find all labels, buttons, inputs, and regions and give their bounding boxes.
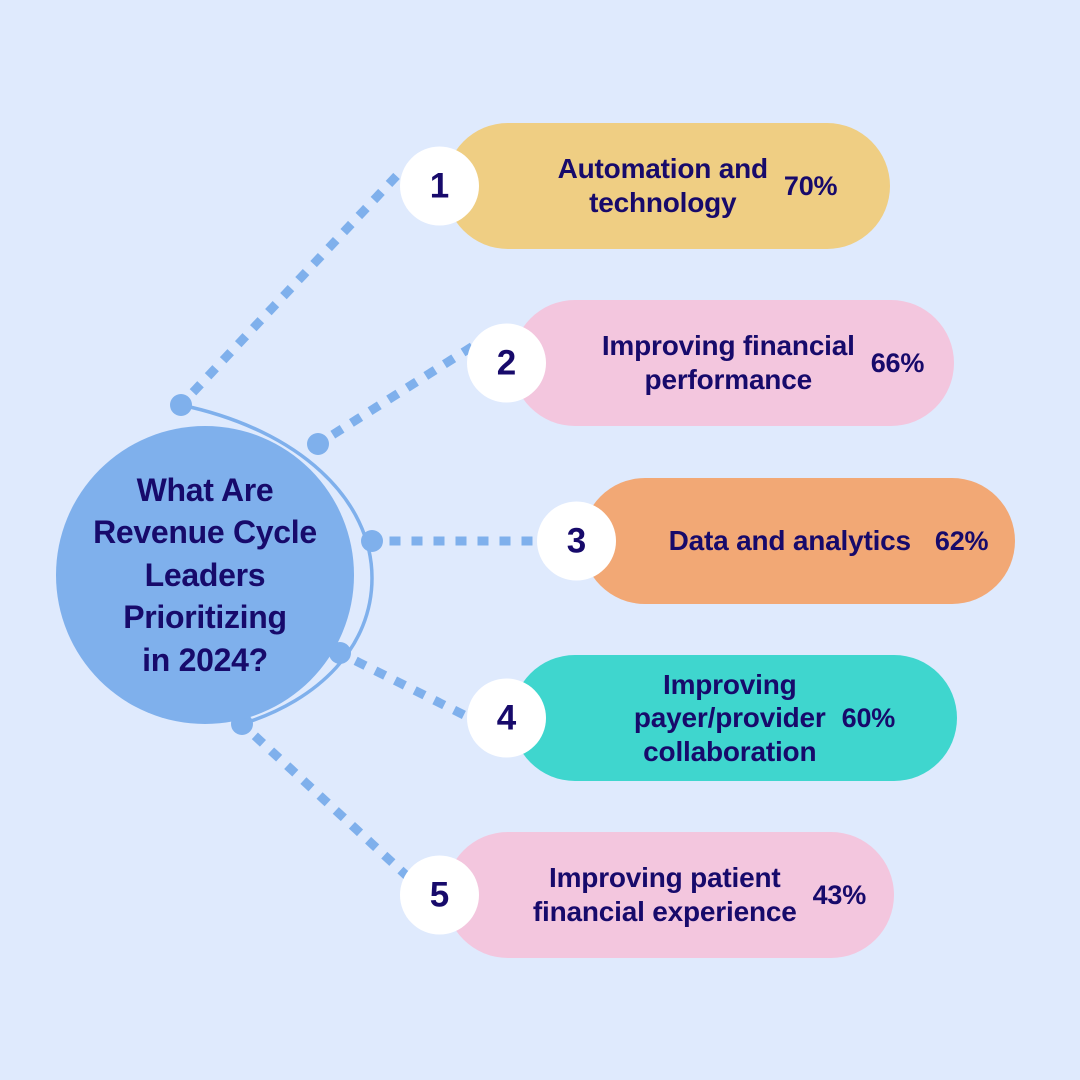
spoke-2 [318,348,470,444]
priority-rank-1: 1 [430,169,449,204]
central-hub: What Are Revenue Cycle Leaders Prioritiz… [56,426,354,724]
priority-pill-1[interactable]: Automation and technology 70% [445,123,890,249]
priority-value-4: 60% [842,703,895,734]
priority-pill-3[interactable]: Data and analytics 62% [582,478,1015,604]
priority-label-5: Improving patient financial experience [533,861,797,928]
spoke-4 [340,653,470,718]
priority-rank-4: 4 [497,701,516,736]
priority-item-4[interactable]: Improving payer/provider collaboration 6… [467,655,957,781]
priority-label-4: Improving payer/provider collaboration [634,668,826,769]
spoke-1 [181,168,404,405]
priority-badge-2: 2 [467,324,546,403]
priority-pill-2[interactable]: Improving financial performance 66% [512,300,954,426]
hub-title: What Are Revenue Cycle Leaders Prioritiz… [79,469,331,682]
priority-label-1: Automation and technology [558,152,768,219]
priority-rank-3: 3 [567,524,586,559]
priority-item-5[interactable]: Improving patient financial experience 4… [400,832,894,958]
priority-item-3[interactable]: Data and analytics 62% 3 [537,478,1015,604]
priority-badge-4: 4 [467,679,546,758]
connector-node-2 [307,433,329,455]
connector-node-1 [170,394,192,416]
infographic-canvas: What Are Revenue Cycle Leaders Prioritiz… [0,0,1080,1080]
priority-rank-5: 5 [430,878,449,913]
priority-value-3: 62% [935,526,988,557]
priority-label-2: Improving financial performance [602,329,855,396]
priority-value-1: 70% [784,171,837,202]
priority-rank-2: 2 [497,346,516,381]
priority-pill-4[interactable]: Improving payer/provider collaboration 6… [512,655,957,781]
priority-pill-5[interactable]: Improving patient financial experience 4… [445,832,894,958]
spoke-5 [242,724,408,877]
priority-value-2: 66% [871,348,924,379]
priority-badge-5: 5 [400,856,479,935]
priority-item-1[interactable]: Automation and technology 70% 1 [400,123,890,249]
priority-badge-1: 1 [400,147,479,226]
priority-badge-3: 3 [537,502,616,581]
priority-value-5: 43% [813,880,866,911]
priority-label-3: Data and analytics [669,524,911,558]
connector-node-3 [361,530,383,552]
priority-item-2[interactable]: Improving financial performance 66% 2 [467,300,954,426]
